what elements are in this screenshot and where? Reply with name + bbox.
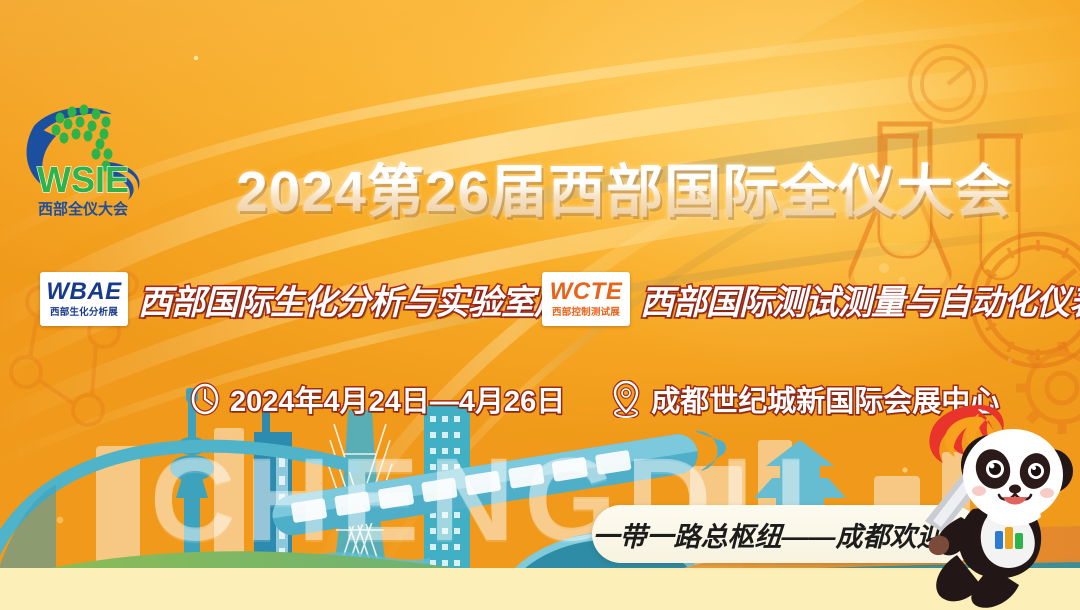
wsie-logo[interactable]: WSIE 西部全仪大会 [16, 92, 150, 222]
sub-exhibition-wbae: WBAE 西部生化分析展 西部国际生化分析与实验室展 [40, 272, 567, 326]
wcte-badge[interactable]: WCTE 西部控制测试展 [542, 272, 630, 326]
panda-head [961, 429, 1073, 521]
page-title: 2024第26届西部国际全仪大会 [236, 146, 1012, 228]
wbae-code: WBAE [46, 280, 121, 304]
sub-exhibition-wcte: WCTE 西部控制测试展 西部国际测试测量与自动化仪表展 [542, 272, 1080, 326]
event-date-item: 2024年4月24日—4月26日 [190, 378, 565, 420]
location-pin-icon [611, 380, 641, 418]
wsie-chinese-name: 西部全仪大会 [38, 200, 128, 218]
event-info-line: 2024年4月24日—4月26日 成都世纪城新国际会展中心 [190, 378, 999, 420]
wbae-code-sub: 西部生化分析展 [50, 308, 118, 318]
event-banner: CHENGDU WSIE 西部全仪大会 2024第26届西部国际全仪大会 WB [0, 0, 1080, 610]
panda-mascot[interactable] [895, 405, 1080, 610]
clock-icon [190, 382, 220, 416]
wcte-title: 西部国际测试测量与自动化仪表展 [640, 275, 1080, 324]
wbae-title: 西部国际生化分析与实验室展 [138, 275, 567, 324]
wbae-badge[interactable]: WBAE 西部生化分析展 [40, 272, 128, 326]
wcte-code-sub: 西部控制测试展 [552, 308, 620, 318]
wsie-acronym: WSIE [37, 159, 129, 200]
event-date: 2024年4月24日—4月26日 [230, 378, 565, 420]
wcte-code: WCTE [550, 280, 623, 304]
